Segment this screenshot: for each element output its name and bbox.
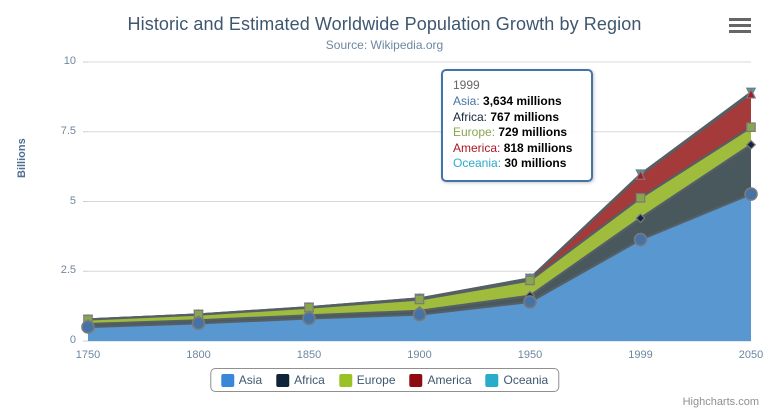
y-tick-label: 10 [36, 55, 76, 67]
tooltip-series-name: Oceania: [453, 156, 504, 170]
tooltip-series-value: 767 millions [490, 110, 559, 124]
tooltip: 1999 Asia: 3,634 millionsAfrica: 767 mil… [441, 69, 593, 182]
legend-label: America [428, 373, 472, 387]
legend-item-europe[interactable]: Europe [339, 373, 396, 387]
y-tick-label: 2.5 [36, 264, 76, 276]
data-point-marker[interactable] [82, 321, 94, 333]
highcharts-container: Historic and Estimated Worldwide Populat… [0, 0, 769, 416]
data-point-marker[interactable] [636, 194, 644, 202]
tooltip-row: Asia: 3,634 millions [453, 94, 581, 110]
x-tick-label: 1900 [390, 349, 450, 361]
legend-swatch-icon [339, 374, 352, 387]
legend-label: Asia [239, 373, 262, 387]
x-tick-label: 1750 [58, 349, 118, 361]
credits-label[interactable]: Highcharts.com [683, 396, 759, 408]
data-point-marker[interactable] [745, 188, 757, 200]
legend-item-asia[interactable]: Asia [221, 373, 262, 387]
x-tick-label: 1950 [500, 349, 560, 361]
tooltip-series-value: 818 millions [504, 141, 573, 155]
tooltip-series-value: 30 millions [504, 156, 566, 170]
x-tick-label: 1800 [169, 349, 229, 361]
legend-item-america[interactable]: America [410, 373, 472, 387]
legend-swatch-icon [486, 374, 499, 387]
y-tick-label: 0 [36, 334, 76, 346]
tooltip-series-name: Asia: [453, 94, 483, 108]
legend-swatch-icon [410, 374, 423, 387]
y-tick-label: 5 [36, 195, 76, 207]
y-tick-label: 7.5 [36, 125, 76, 137]
data-point-marker[interactable] [635, 234, 647, 246]
tooltip-row: Oceania: 30 millions [453, 156, 581, 172]
legend-label: Europe [357, 373, 396, 387]
legend-swatch-icon [276, 374, 289, 387]
data-point-marker[interactable] [303, 312, 315, 324]
legend-label: Africa [294, 373, 325, 387]
x-tick-label: 1850 [279, 349, 339, 361]
legend-swatch-icon [221, 374, 234, 387]
tooltip-header: 1999 [453, 78, 581, 92]
data-point-marker[interactable] [193, 317, 205, 329]
data-point-marker[interactable] [526, 276, 534, 284]
tooltip-series-value: 3,634 millions [483, 94, 562, 108]
x-tick-label: 2050 [721, 349, 769, 361]
chart-legend: AsiaAfricaEuropeAmericaOceania [210, 368, 559, 392]
tooltip-series-name: Europe: [453, 125, 498, 139]
tooltip-series-name: Africa: [453, 110, 490, 124]
tooltip-rows: Asia: 3,634 millionsAfrica: 767 millions… [453, 94, 581, 172]
data-point-marker[interactable] [747, 123, 755, 131]
data-point-marker[interactable] [415, 295, 423, 303]
tooltip-row: America: 818 millions [453, 141, 581, 157]
tooltip-row: Europe: 729 millions [453, 125, 581, 141]
x-tick-label: 1999 [611, 349, 671, 361]
data-point-marker[interactable] [414, 309, 426, 321]
tooltip-series-name: America: [453, 141, 504, 155]
legend-label: Oceania [504, 373, 549, 387]
legend-item-oceania[interactable]: Oceania [486, 373, 549, 387]
tooltip-series-value: 729 millions [498, 125, 567, 139]
legend-item-africa[interactable]: Africa [276, 373, 325, 387]
tooltip-row: Africa: 767 millions [453, 110, 581, 126]
data-point-marker[interactable] [524, 296, 536, 308]
